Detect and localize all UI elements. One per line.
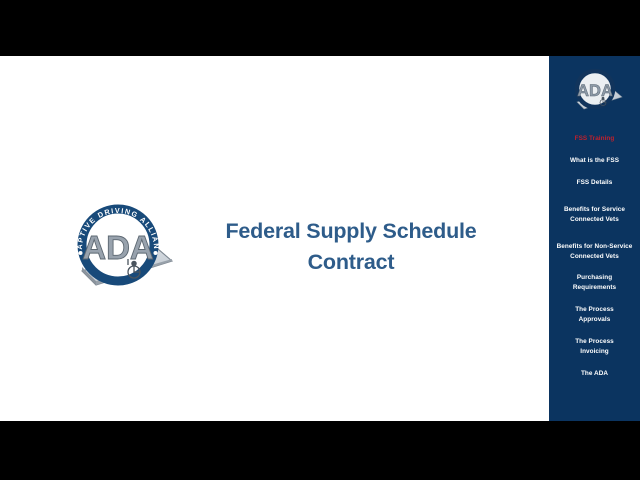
sidebar-item-the-process-invoicing[interactable]: The Process Invoicing [549,337,640,357]
letterbox-top [0,0,640,56]
sidebar-item-what-is-the-fss[interactable]: What is the FSS [549,156,640,166]
slide-content-area: ADAPTIVE DRIVING ALLIANCE ADA [0,56,549,421]
sidebar-item-the-process-approvals[interactable]: The Process Approvals [549,305,640,325]
sidebar-item-fss-training[interactable]: FSS Training [549,134,640,144]
sidebar-item-benefits-service-connected-vets[interactable]: Benefits for Service Connected Vets [549,205,640,225]
sidebar-item-the-ada[interactable]: The ADA [549,369,640,379]
sidebar-item-purchasing-requirements[interactable]: Purchasing Requirements [549,273,640,293]
sidebar-item-fss-details[interactable]: FSS Details [549,178,640,188]
slide-sidebar: ADA FSS Training What is the FSS FSS Det… [549,56,640,421]
presentation-slide: ADAPTIVE DRIVING ALLIANCE ADA [0,56,640,421]
title-line-2: Contract [186,247,516,278]
ada-logo: ADAPTIVE DRIVING ALLIANCE ADA [62,193,174,293]
page-title: Federal Supply Schedule Contract [186,216,516,277]
svg-text:ADA: ADA [577,82,613,100]
title-line-1: Federal Supply Schedule [186,216,516,247]
letterbox-bottom [0,421,640,480]
sidebar-nav: FSS Training What is the FSS FSS Details… [549,134,640,391]
ada-logo-small: ADA [567,62,623,114]
video-player-stage: ADAPTIVE DRIVING ALLIANCE ADA [0,0,640,480]
svg-text:ADA: ADA [82,229,154,266]
sidebar-item-benefits-non-service-connected-vets[interactable]: Benefits for Non-Service Connected Vets [549,242,640,262]
